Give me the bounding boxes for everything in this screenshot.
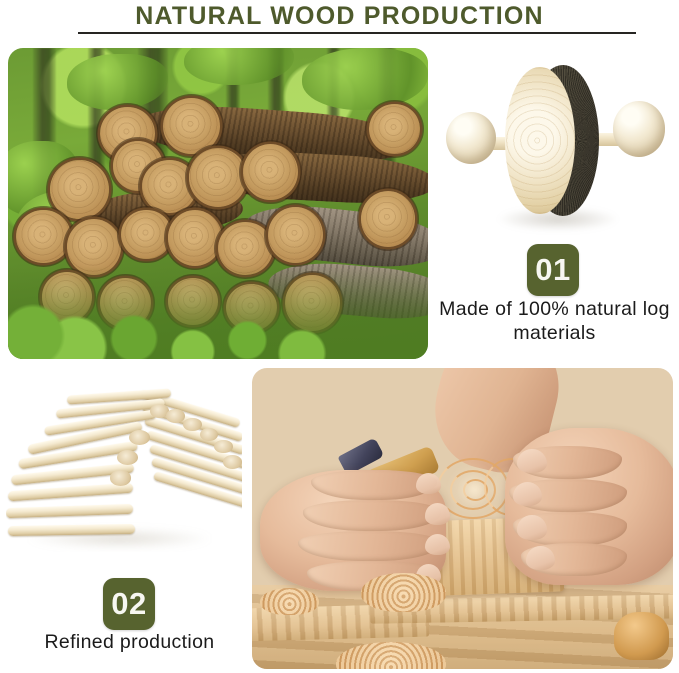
page-title: NATURAL WOOD PRODUCTION	[0, 2, 679, 31]
log-end-face	[243, 144, 298, 200]
finger	[303, 500, 442, 530]
fingernail	[517, 449, 546, 473]
photo-carpenter	[252, 368, 673, 669]
title-divider	[78, 32, 636, 34]
log-end-face	[168, 210, 223, 266]
bridge-rod-end	[166, 409, 185, 423]
log-end-face	[121, 210, 171, 260]
bridge-rod-end	[117, 450, 138, 465]
undergrowth	[8, 266, 428, 359]
fingernail	[416, 473, 441, 494]
bridge-rod-end	[183, 418, 202, 432]
step-caption-02: Refined production	[0, 631, 259, 655]
log-end-face	[50, 160, 109, 219]
bridge-rod-end	[223, 455, 242, 469]
fingernail	[425, 534, 450, 555]
step-badge-02: 02	[103, 578, 155, 630]
step-caption-01: Made of 100% natural log materials	[430, 298, 679, 346]
step-badge-01: 01	[527, 244, 579, 296]
log-end-face	[163, 98, 220, 154]
fingernail	[425, 503, 450, 524]
log-end-face	[189, 148, 248, 207]
fingernail	[513, 482, 542, 506]
log-end-face	[369, 104, 419, 154]
bridge-rod-end	[129, 430, 150, 445]
bridge-rod-end	[214, 440, 233, 454]
finger	[298, 531, 441, 561]
bridge-rod	[6, 504, 134, 519]
photo-dowel-bridge	[6, 382, 242, 552]
photo-rattle-toy	[436, 56, 675, 236]
toy-ball	[446, 112, 496, 164]
bridge-rod-end	[110, 470, 131, 485]
wood-shaving-pile	[260, 588, 319, 615]
log-end-face	[361, 191, 416, 247]
plane-knob	[614, 612, 669, 660]
bridge-rod	[8, 524, 136, 536]
wood-shaving-pile	[361, 573, 445, 612]
bridge-rod	[8, 483, 133, 502]
log-end-face	[142, 160, 197, 213]
log-end-face	[268, 207, 323, 263]
toy-ball	[613, 101, 666, 157]
photo-log-pile	[8, 48, 428, 359]
log-end-face	[16, 210, 71, 263]
fingernail	[517, 515, 546, 539]
log-slice-face	[505, 67, 574, 215]
